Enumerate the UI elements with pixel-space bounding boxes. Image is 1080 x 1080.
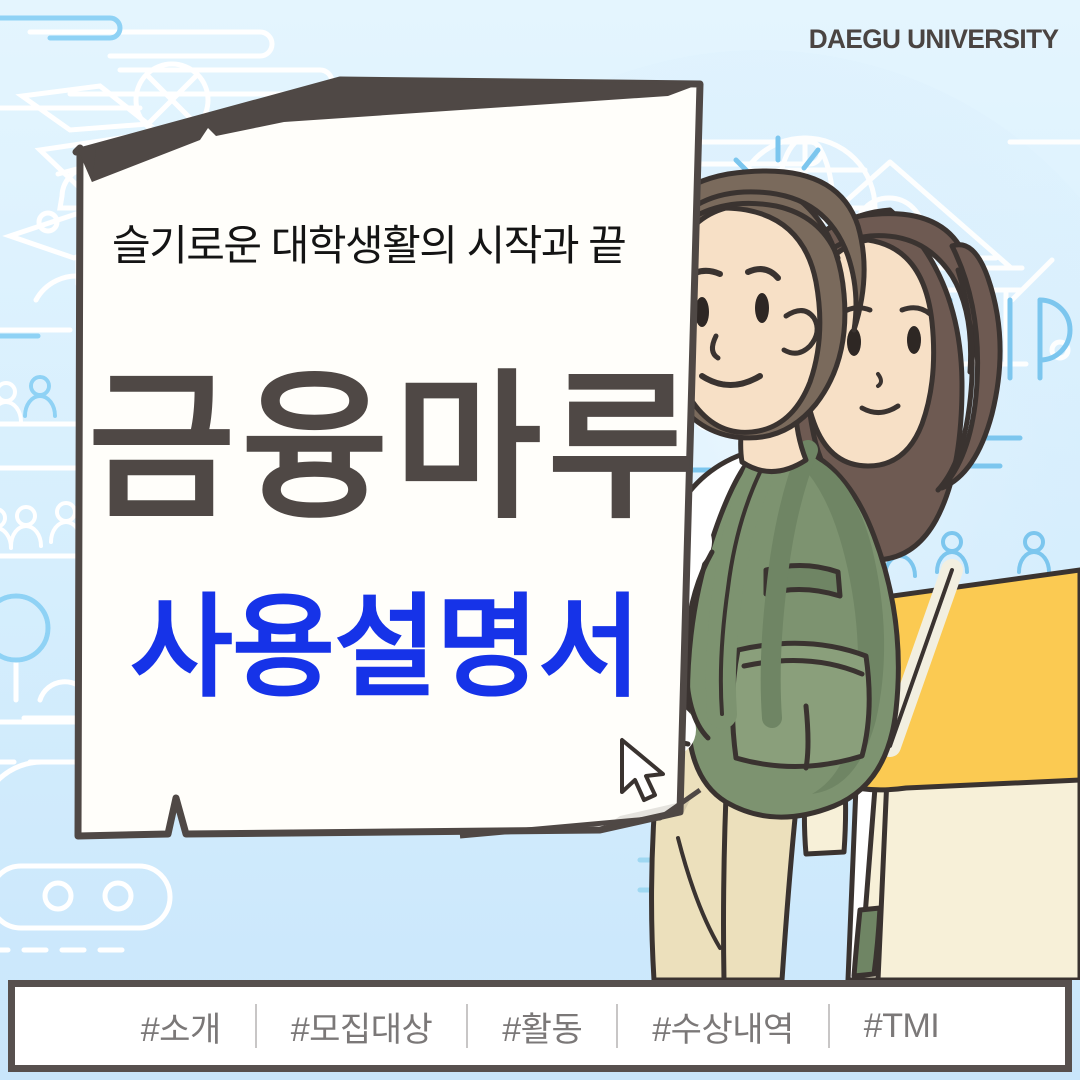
brand-logo: DAEGU UNIVERSITY <box>808 24 1058 55</box>
bottom-nav: #소개 #모집대상 #활동 #수상내역 #TMI <box>8 980 1072 1072</box>
nav-item-awards[interactable]: #수상내역 <box>618 1002 828 1051</box>
nav-item-activity[interactable]: #활동 <box>468 1002 616 1051</box>
nav-item-target[interactable]: #모집대상 <box>257 1002 467 1051</box>
nav-item-tmi[interactable]: #TMI <box>830 1007 973 1046</box>
poster-canvas: DAEGU UNIVERSITY 슬기로운 대학생활의 시작과 끝 금융마루 사… <box>0 0 1080 1080</box>
nav-item-list: #소개 #모집대상 #활동 #수상내역 #TMI <box>107 1002 973 1051</box>
nav-item-intro[interactable]: #소개 <box>107 1002 255 1051</box>
mouse-pointer-icon <box>614 736 672 808</box>
